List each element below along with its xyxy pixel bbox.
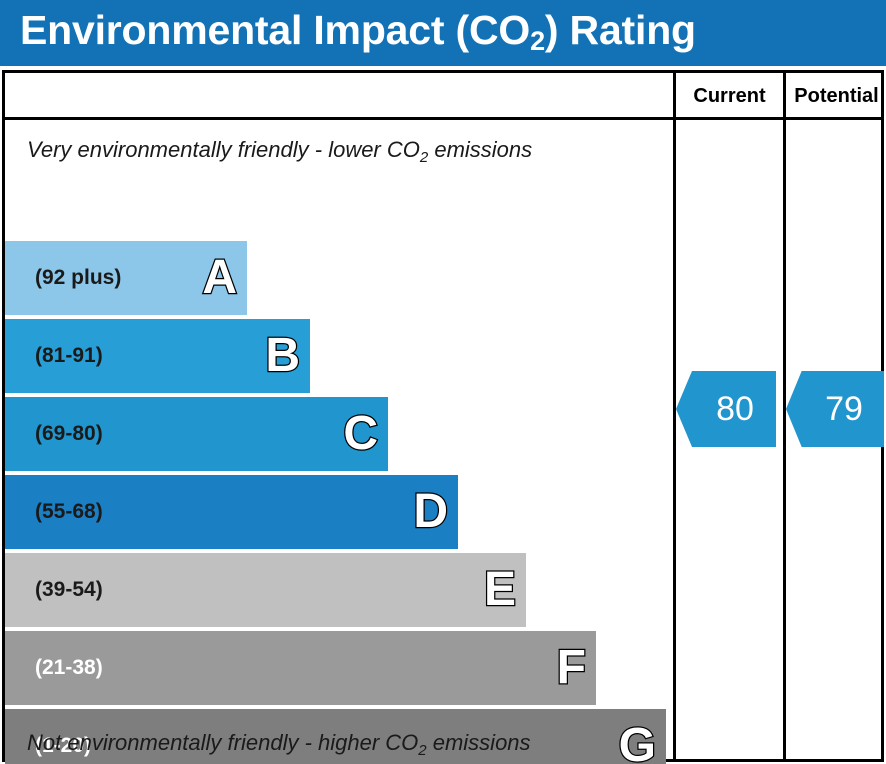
column-divider-potential xyxy=(783,73,786,762)
band-letter-g: G xyxy=(619,722,656,764)
page-title-suffix: ) Rating xyxy=(545,7,696,53)
title-bar: Environmental Impact (CO2) Rating xyxy=(0,0,886,66)
rating-band-c: (69-80)C xyxy=(5,397,388,471)
rating-band-b: (81-91)B xyxy=(5,319,310,393)
band-letter-f: F xyxy=(557,644,586,692)
potential-rating-value: 79 xyxy=(807,392,863,426)
rating-bands: (92 plus)A(81-91)B(69-80)C(55-68)D(39-54… xyxy=(5,73,671,762)
band-letter-c: C xyxy=(343,410,378,458)
band-range-label: (55-68) xyxy=(35,500,103,524)
band-range-label: (92 plus) xyxy=(35,266,121,290)
page-title-subscript: 2 xyxy=(530,26,545,56)
rating-band-e: (39-54)E xyxy=(5,553,526,627)
caption-bottom-subscript: 2 xyxy=(418,742,426,759)
current-rating-value: 80 xyxy=(698,392,754,426)
rating-band-a: (92 plus)A xyxy=(5,241,247,315)
band-letter-b: B xyxy=(265,332,300,380)
page-title: Environmental Impact (CO2) Rating xyxy=(20,7,696,54)
epc-environmental-impact-chart: Environmental Impact (CO2) Rating Curren… xyxy=(0,0,886,764)
caption-bottom-suffix: emissions xyxy=(427,730,531,755)
current-rating-arrow: 80 xyxy=(676,371,776,447)
potential-rating-arrow: 79 xyxy=(786,371,884,447)
rating-band-f: (21-38)F xyxy=(5,631,596,705)
band-letter-e: E xyxy=(484,566,516,614)
band-range-label: (69-80) xyxy=(35,422,103,446)
caption-bottom-prefix: Not environmentally friendly - higher CO xyxy=(27,730,418,755)
band-letter-d: D xyxy=(413,488,448,536)
column-header-potential: Potential xyxy=(786,81,886,111)
rating-band-d: (55-68)D xyxy=(5,475,458,549)
chart-table-frame: Current Potential Very environmentally f… xyxy=(2,70,884,762)
page-title-prefix: Environmental Impact (CO xyxy=(20,7,530,53)
band-range-label: (39-54) xyxy=(35,578,103,602)
caption-bottom: Not environmentally friendly - higher CO… xyxy=(27,730,531,756)
column-divider-current xyxy=(673,73,676,762)
band-range-label: (21-38) xyxy=(35,656,103,680)
column-header-current: Current xyxy=(676,81,783,111)
band-range-label: (81-91) xyxy=(35,344,103,368)
band-letter-a: A xyxy=(202,254,237,302)
